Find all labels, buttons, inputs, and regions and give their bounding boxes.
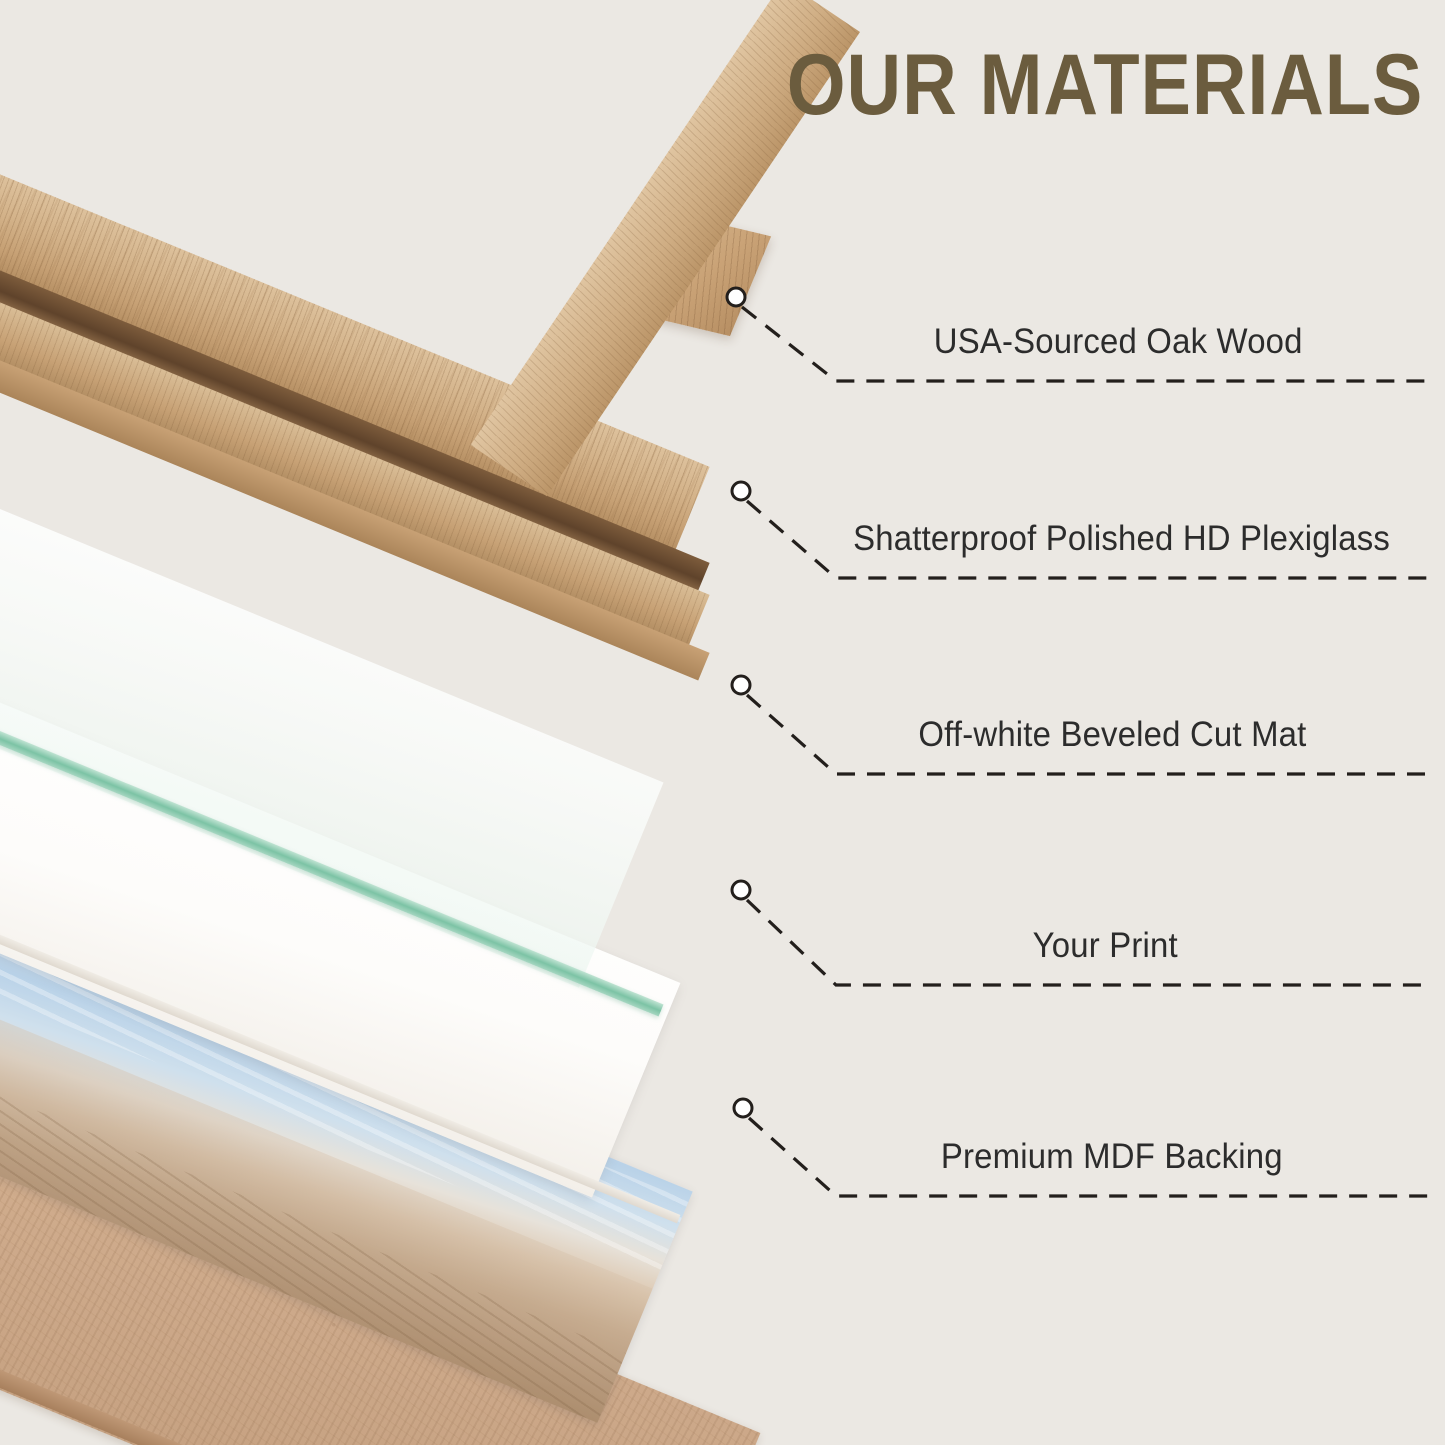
infographic-canvas: OUR MATERIALS USA-Sourced Oak Wood Shatt…: [0, 0, 1445, 1445]
callout-markers: [727, 288, 752, 1117]
callout-label-5: Premium MDF Backing: [941, 1137, 1283, 1177]
callout-marker-5: [734, 1099, 752, 1117]
callout-label-1: USA-Sourced Oak Wood: [934, 322, 1303, 362]
callout-label-2: Shatterproof Polished HD Plexiglass: [853, 519, 1390, 559]
callout-label-4: Your Print: [1033, 926, 1178, 966]
callout-label-3: Off-white Beveled Cut Mat: [918, 715, 1306, 755]
callout-marker-2: [732, 482, 750, 500]
callout-marker-3: [732, 676, 750, 694]
callout-marker-4: [732, 881, 750, 899]
page-title: OUR MATERIALS: [787, 42, 1423, 128]
